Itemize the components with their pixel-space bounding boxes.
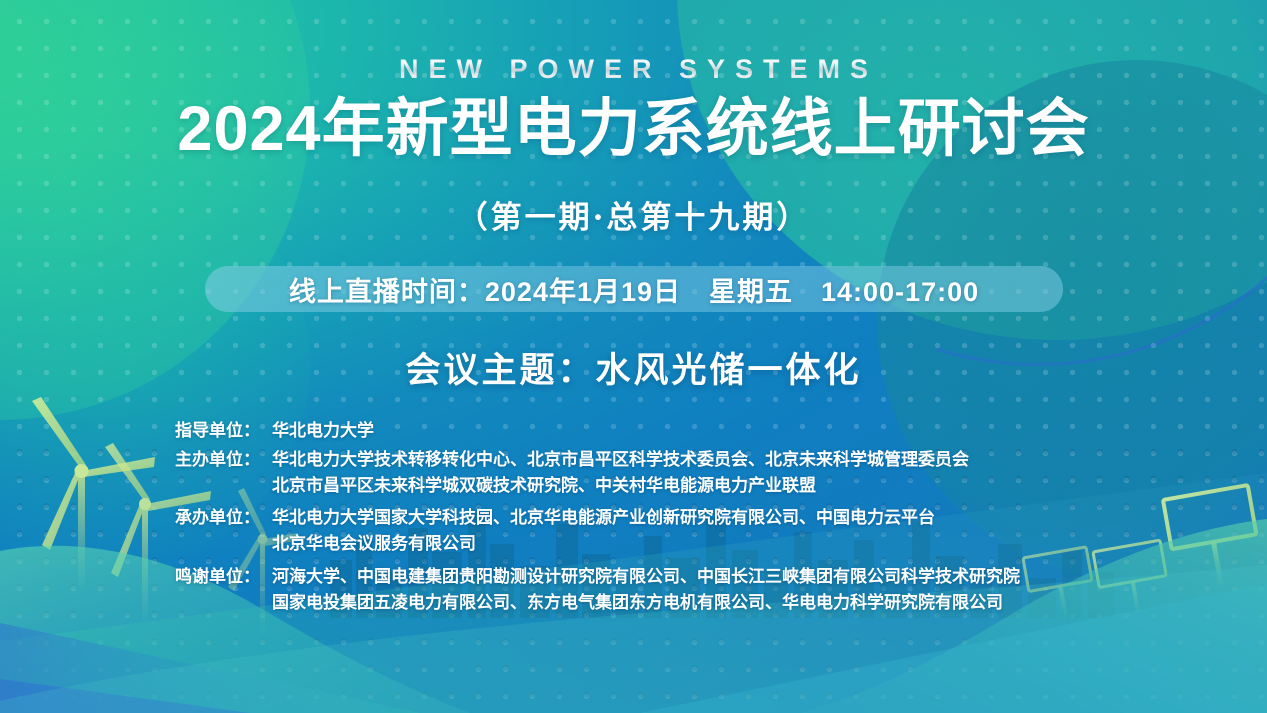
org-label: 指导单位： <box>175 418 272 444</box>
org-value: 华北电力大学 <box>272 418 1135 444</box>
org-value: 华北电力大学国家大学科技园、北京华电能源产业创新研究院有限公司、中国电力云平台 … <box>272 505 1135 557</box>
org-value: 华北电力大学技术转移转化中心、北京市昌平区科学技术委员会、北京未来科学城管理委员… <box>272 447 1135 499</box>
broadcast-time-text: 线上直播时间：2024年1月19日 星期五 14:00-17:00 <box>289 270 979 309</box>
org-row-acknowledgement: 鸣谢单位： 河海大学、中国电建集团贵阳勘测设计研究院有限公司、中国长江三峡集团有… <box>175 564 1135 616</box>
broadcast-time-banner: 线上直播时间：2024年1月19日 星期五 14:00-17:00 <box>205 266 1063 312</box>
poster-subtitle: （第一期·总第十九期） <box>0 192 1267 237</box>
poster-content: NEW POWER SYSTEMS 2024年新型电力系统线上研讨会 （第一期·… <box>0 0 1267 713</box>
page-title: 2024年新型电力系统线上研讨会 <box>0 95 1267 163</box>
org-line: 北京华电会议服务有限公司 <box>272 531 1135 557</box>
conference-theme: 会议主题：水风光储一体化 <box>0 342 1267 393</box>
poster-eyebrow: NEW POWER SYSTEMS <box>0 54 1267 85</box>
org-line: 华北电力大学技术转移转化中心、北京市昌平区科学技术委员会、北京未来科学城管理委员… <box>272 447 1135 473</box>
org-row-host: 主办单位： 华北电力大学技术转移转化中心、北京市昌平区科学技术委员会、北京未来科… <box>175 447 1135 499</box>
org-line: 华北电力大学 <box>272 418 1135 444</box>
org-line: 北京市昌平区未来科学城双碳技术研究院、中关村华电能源电力产业联盟 <box>272 473 1135 499</box>
org-label: 主办单位： <box>175 447 272 473</box>
org-row-organizer: 承办单位： 华北电力大学国家大学科技园、北京华电能源产业创新研究院有限公司、中国… <box>175 505 1135 557</box>
conference-poster: NEW POWER SYSTEMS 2024年新型电力系统线上研讨会 （第一期·… <box>0 0 1267 713</box>
org-line: 国家电投集团五凌电力有限公司、东方电气集团东方电机有限公司、华电电力科学研究院有… <box>272 590 1135 616</box>
org-row-guidance: 指导单位： 华北电力大学 <box>175 418 1135 444</box>
org-line: 华北电力大学国家大学科技园、北京华电能源产业创新研究院有限公司、中国电力云平台 <box>272 505 1135 531</box>
org-label: 承办单位： <box>175 505 272 531</box>
organizations-list: 指导单位： 华北电力大学 主办单位： 华北电力大学技术转移转化中心、北京市昌平区… <box>175 418 1135 619</box>
org-label: 鸣谢单位： <box>175 564 272 590</box>
org-line: 河海大学、中国电建集团贵阳勘测设计研究院有限公司、中国长江三峡集团有限公司科学技… <box>272 564 1135 590</box>
org-value: 河海大学、中国电建集团贵阳勘测设计研究院有限公司、中国长江三峡集团有限公司科学技… <box>272 564 1135 616</box>
